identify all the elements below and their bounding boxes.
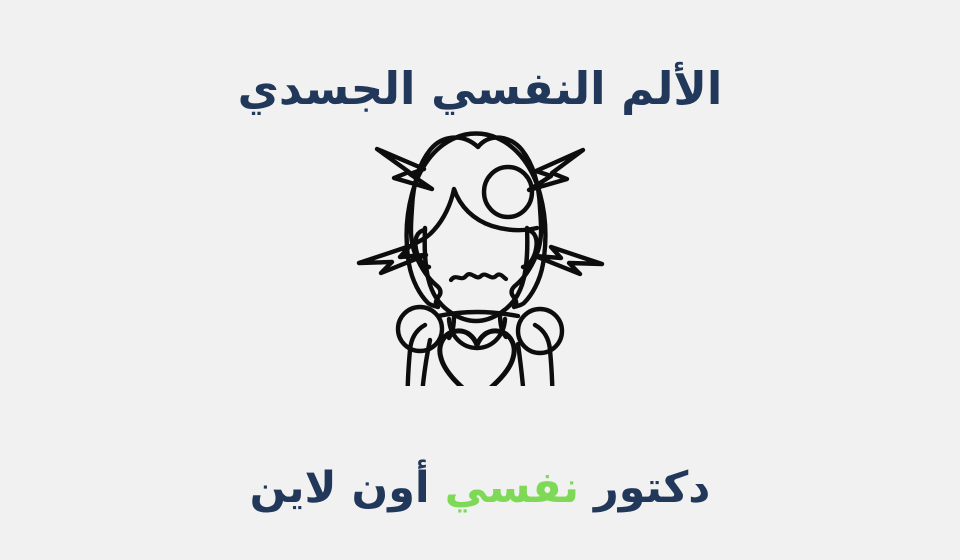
tagline-segment-3: أون لاين <box>250 463 445 513</box>
shirt-seam-right <box>518 344 525 386</box>
wavy-sad-mouth <box>451 274 506 280</box>
shirt-torso <box>408 325 553 386</box>
heart-on-chest-icon <box>440 331 514 386</box>
shirt-collar <box>438 312 518 316</box>
tagline-segment-accent: نفسي <box>445 463 579 513</box>
tagline: دكتور نفسي أون لاين <box>250 464 711 512</box>
page-title: الألم النفسي الجسدي <box>238 64 723 114</box>
stressed-person-with-heart-illustration <box>350 124 610 386</box>
heading-container: الألم النفسي الجسدي <box>0 34 960 104</box>
hair-bun-circle <box>484 167 532 217</box>
tagline-container: دكتور نفسي أون لاين <box>0 464 960 512</box>
tagline-segment-1: دكتور <box>579 463 710 513</box>
poster-canvas: الألم النفسي الجسدي <box>0 0 960 560</box>
illustration-container <box>350 124 610 386</box>
